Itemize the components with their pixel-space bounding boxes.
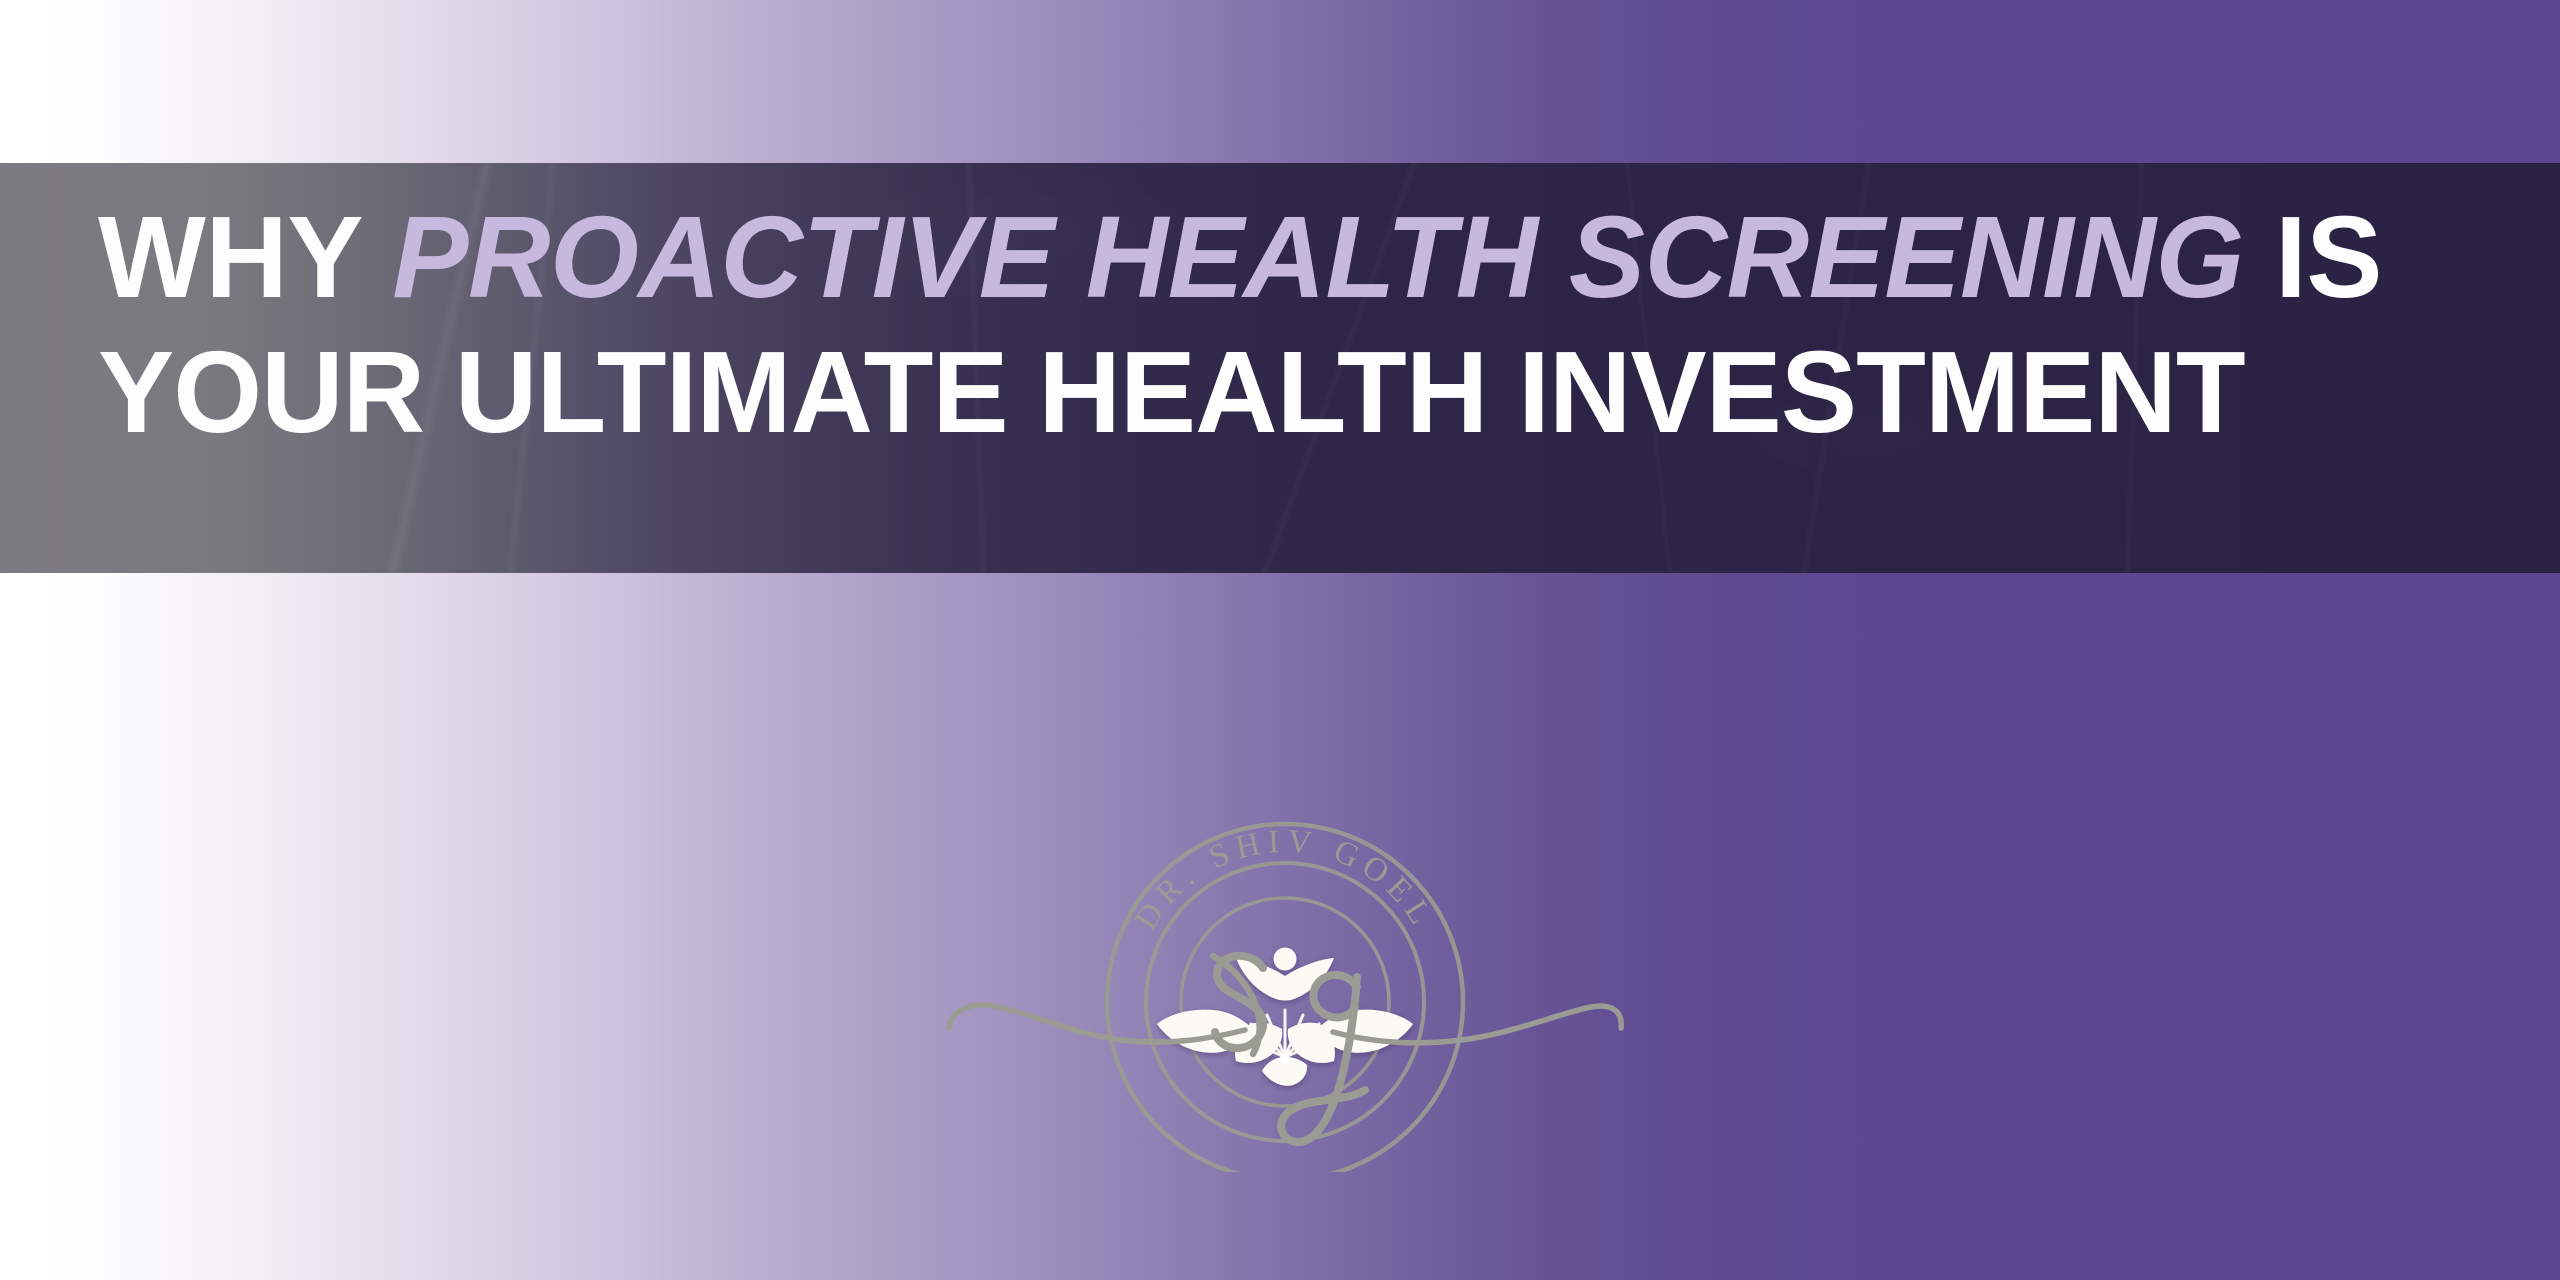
headline-segment-accent: PROACTIVE HEALTH SCREENING — [392, 192, 2243, 322]
brand-logo[interactable]: DR. SHIV GOEL — [945, 752, 1625, 1172]
title-band: WHY PROACTIVE HEALTH SCREENING IS YOUR U… — [0, 163, 2560, 573]
emblem-person-head — [1274, 948, 1297, 971]
page-title: WHY PROACTIVE HEALTH SCREENING IS YOUR U… — [98, 171, 2442, 452]
logo-svg: DR. SHIV GOEL — [945, 752, 1625, 1172]
headline-segment-line2: YOUR ULTIMATE HEALTH INVESTMENT — [98, 327, 2245, 457]
headline-line-1: WHY PROACTIVE HEALTH SCREENING IS — [98, 197, 2442, 318]
headline-segment-is: IS — [2244, 192, 2382, 322]
emblem-center-dot — [1280, 1053, 1290, 1063]
headline-segment-why: WHY — [98, 192, 392, 322]
logo-ring-middle — [1146, 863, 1424, 1141]
banner-canvas: WHY PROACTIVE HEALTH SCREENING IS YOUR U… — [0, 0, 2560, 1280]
headline-line-2: YOUR ULTIMATE HEALTH INVESTMENT — [98, 332, 2442, 453]
